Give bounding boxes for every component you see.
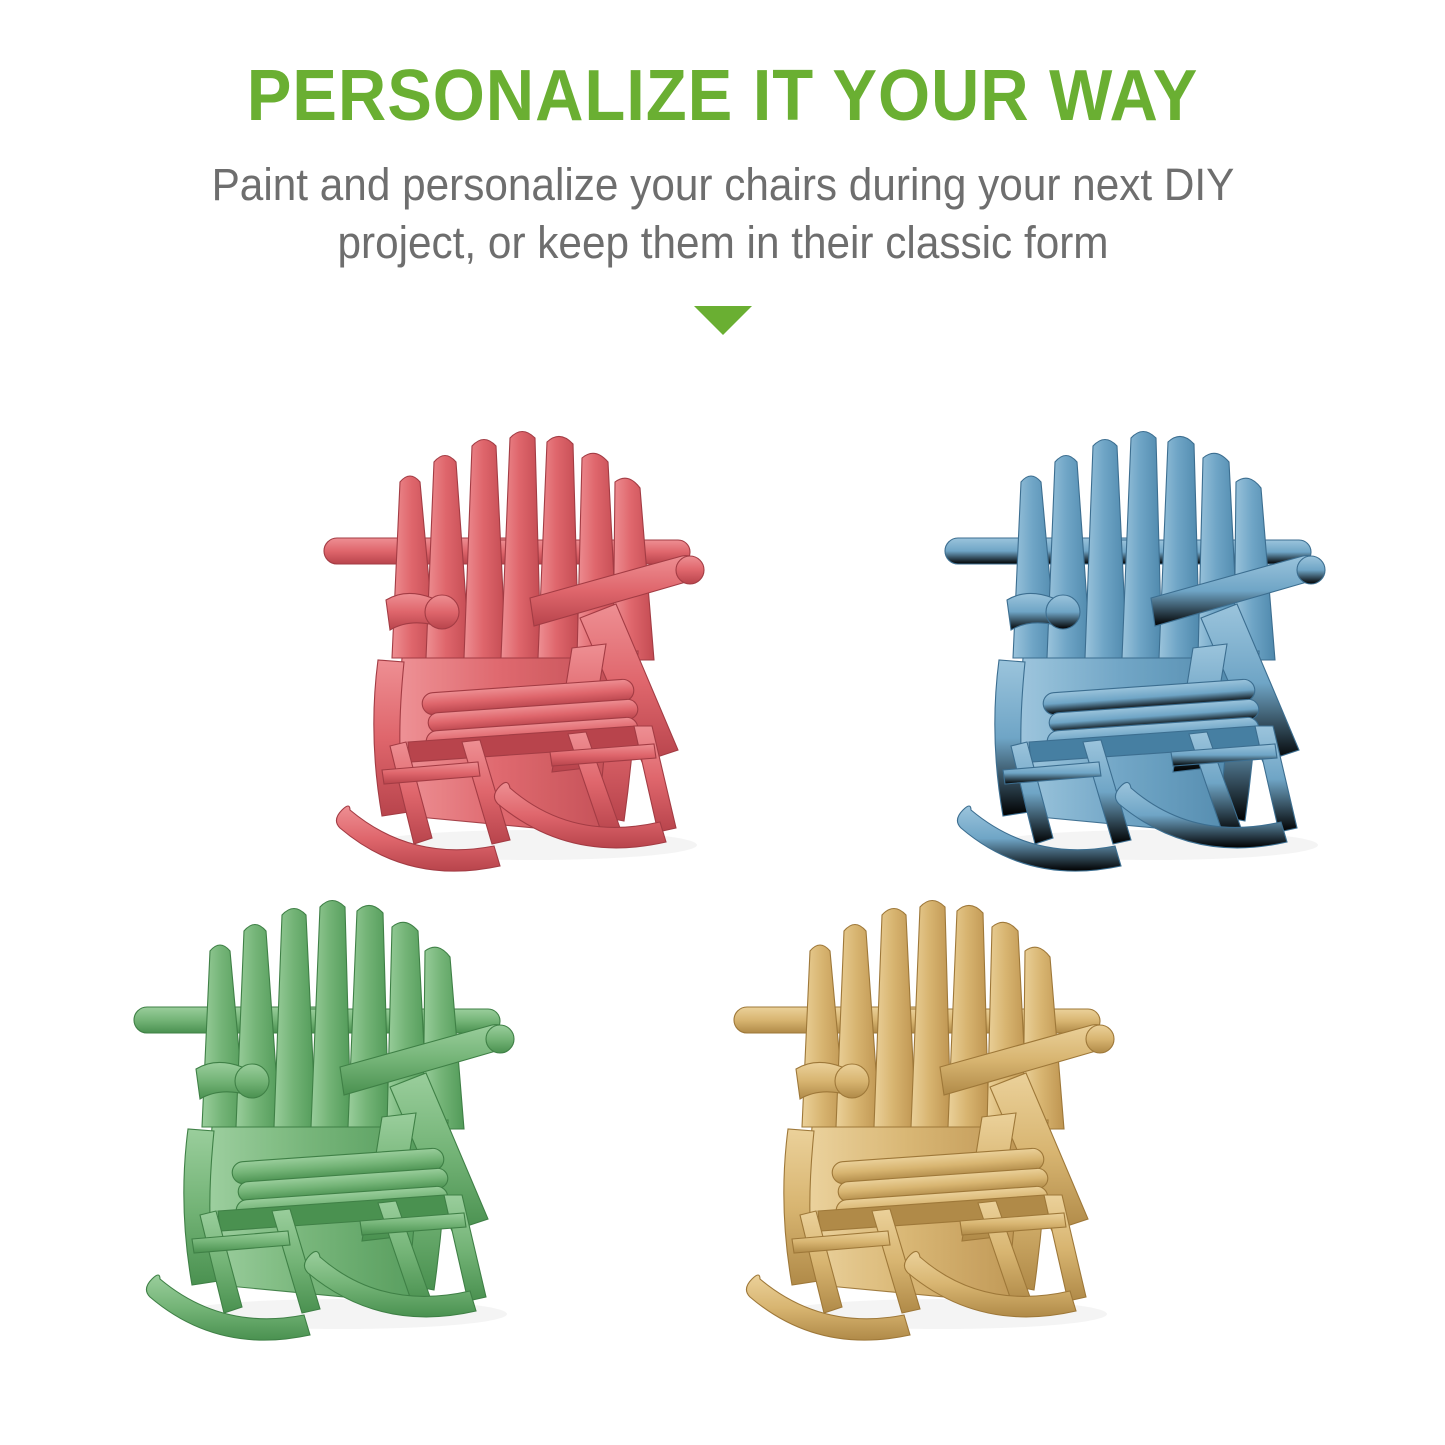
page-subtitle: Paint and personalize your chairs during… xyxy=(163,156,1282,272)
header: PERSONALIZE IT YOUR WAY Paint and person… xyxy=(0,0,1445,335)
promo-banner: PERSONALIZE IT YOUR WAY Paint and person… xyxy=(0,0,1445,1445)
chevron-down-triangle-icon xyxy=(694,306,752,335)
chair-red[interactable] xyxy=(282,390,764,872)
divider xyxy=(0,306,1445,335)
chair-natural[interactable] xyxy=(692,859,1174,1341)
chair-gallery xyxy=(0,382,1445,1382)
chair-blue[interactable] xyxy=(903,390,1385,872)
chair-green[interactable] xyxy=(92,859,574,1341)
page-title: PERSONALIZE IT YOUR WAY xyxy=(51,58,1395,134)
